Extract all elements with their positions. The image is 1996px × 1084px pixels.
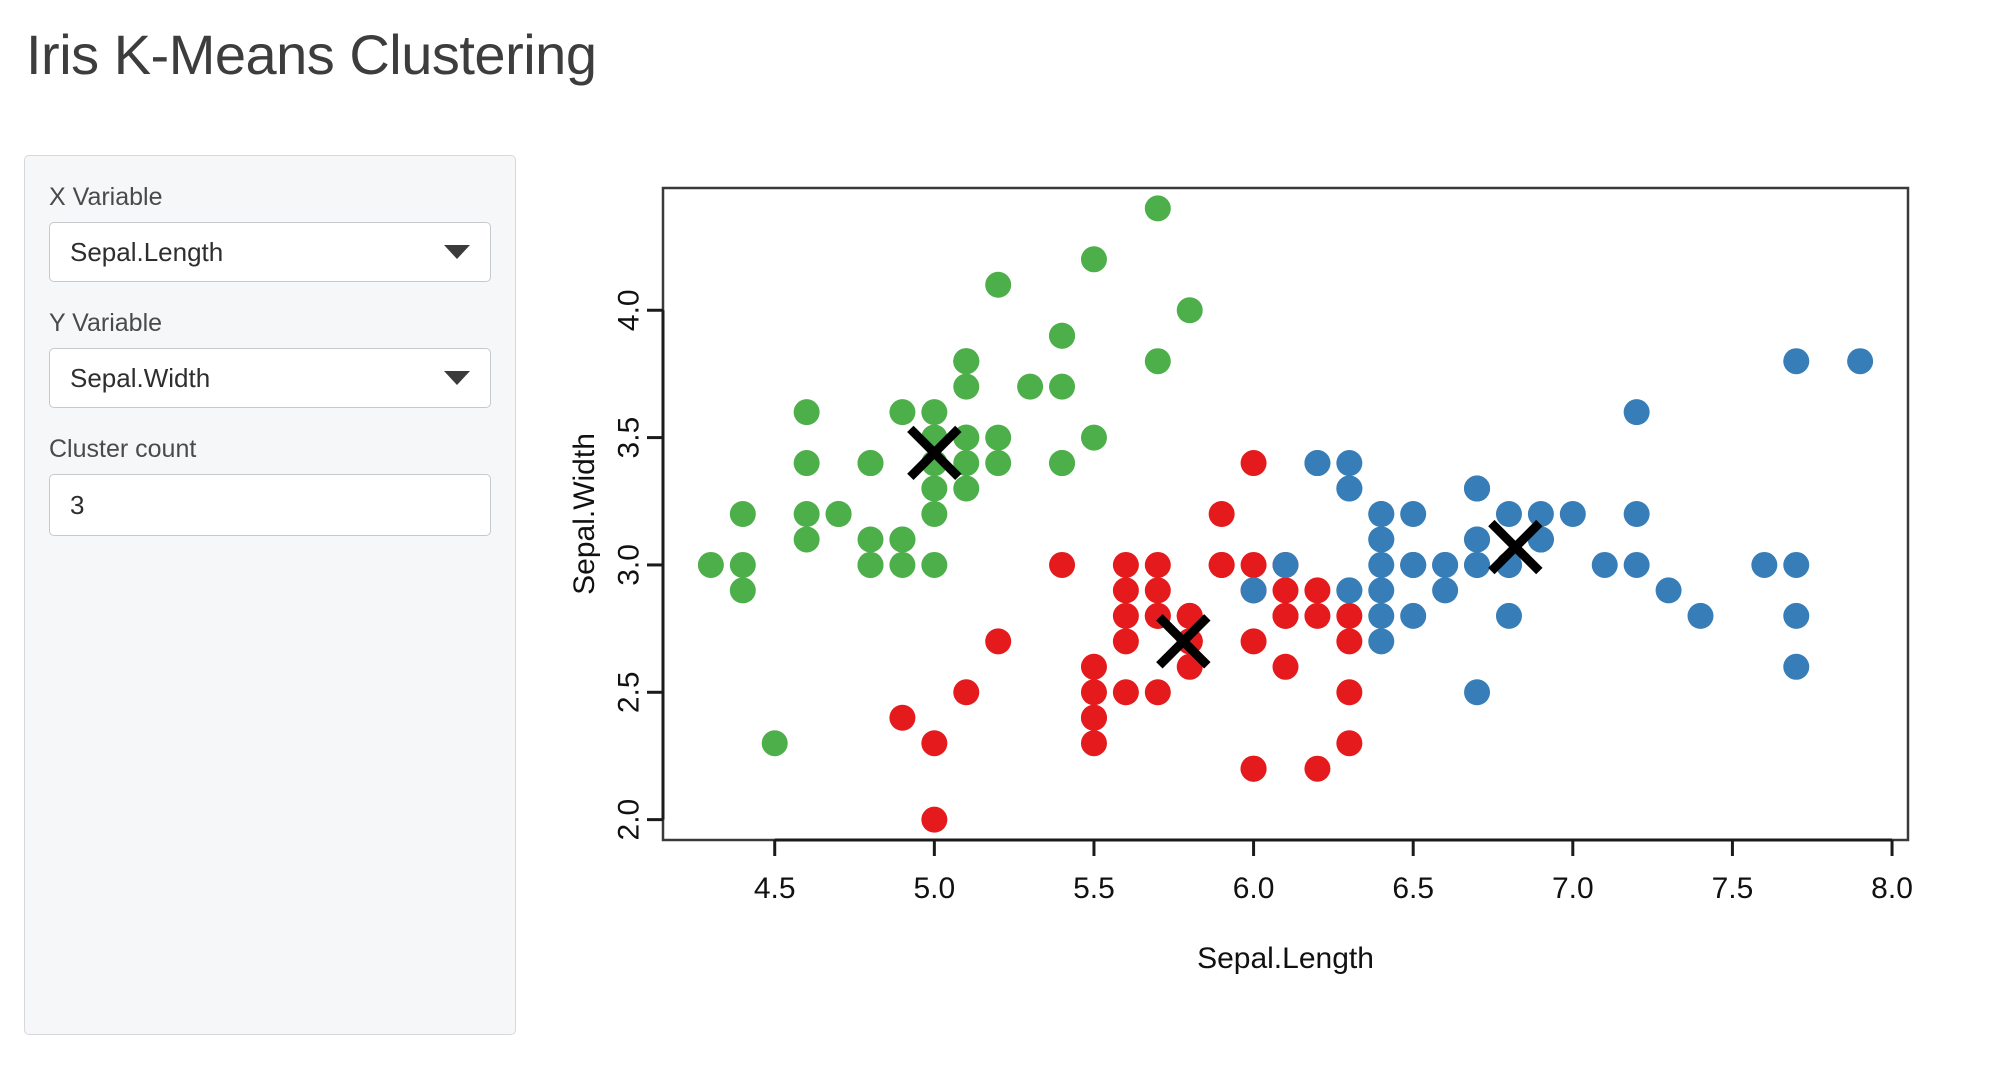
data-point bbox=[1592, 552, 1618, 578]
data-point bbox=[1783, 603, 1809, 629]
data-point bbox=[953, 374, 979, 400]
y-axis-tick-label: 3.5 bbox=[613, 417, 646, 459]
data-point bbox=[1464, 679, 1490, 705]
data-point bbox=[1783, 348, 1809, 374]
data-point bbox=[1209, 552, 1235, 578]
data-point bbox=[1241, 552, 1267, 578]
cluster-count-input[interactable]: 3 bbox=[49, 474, 491, 536]
data-point bbox=[1273, 654, 1299, 680]
data-point bbox=[730, 501, 756, 527]
y-variable-label: Y Variable bbox=[49, 308, 491, 338]
data-point bbox=[921, 399, 947, 425]
scatter-plot-container: 4.55.05.56.06.57.07.58.02.02.53.03.54.0S… bbox=[556, 150, 1976, 1000]
data-point bbox=[1336, 476, 1362, 502]
data-point bbox=[1017, 374, 1043, 400]
data-point bbox=[1368, 628, 1394, 654]
data-point bbox=[1624, 501, 1650, 527]
chevron-down-icon bbox=[444, 371, 470, 385]
data-point bbox=[1304, 756, 1330, 782]
x-axis-tick-label: 5.5 bbox=[1073, 872, 1115, 905]
data-point bbox=[1113, 628, 1139, 654]
data-point bbox=[1656, 577, 1682, 603]
data-point bbox=[1145, 577, 1171, 603]
data-point bbox=[1336, 679, 1362, 705]
page-title: Iris K-Means Clustering bbox=[26, 24, 596, 86]
data-point bbox=[794, 450, 820, 476]
data-point bbox=[889, 399, 915, 425]
data-point bbox=[1145, 195, 1171, 221]
y-axis-tick-label: 2.5 bbox=[613, 671, 646, 713]
x-axis-tick-label: 7.0 bbox=[1552, 872, 1594, 905]
data-point bbox=[1688, 603, 1714, 629]
y-variable-field: Y Variable Sepal.Width bbox=[49, 308, 491, 408]
data-point bbox=[953, 348, 979, 374]
x-axis-tick-label: 6.5 bbox=[1392, 872, 1434, 905]
data-point bbox=[858, 526, 884, 552]
data-point bbox=[1368, 552, 1394, 578]
data-point bbox=[1145, 348, 1171, 374]
data-point bbox=[1496, 501, 1522, 527]
data-point bbox=[1081, 654, 1107, 680]
data-point bbox=[1177, 297, 1203, 323]
data-point bbox=[889, 705, 915, 731]
data-point bbox=[1624, 399, 1650, 425]
data-point bbox=[1304, 603, 1330, 629]
data-point bbox=[1464, 476, 1490, 502]
data-point bbox=[1113, 679, 1139, 705]
data-point bbox=[921, 730, 947, 756]
x-axis-tick-label: 5.0 bbox=[913, 872, 955, 905]
data-point bbox=[1751, 552, 1777, 578]
data-point bbox=[730, 577, 756, 603]
cluster-count-field: Cluster count 3 bbox=[49, 434, 491, 536]
data-point bbox=[1049, 374, 1075, 400]
data-point bbox=[921, 501, 947, 527]
chevron-down-icon bbox=[444, 245, 470, 259]
data-point bbox=[1081, 730, 1107, 756]
data-point bbox=[1400, 552, 1426, 578]
data-point bbox=[889, 552, 915, 578]
data-point bbox=[1113, 577, 1139, 603]
data-point bbox=[1145, 679, 1171, 705]
data-point bbox=[1241, 450, 1267, 476]
data-point bbox=[1496, 603, 1522, 629]
data-point bbox=[1336, 603, 1362, 629]
data-point bbox=[1209, 501, 1235, 527]
x-variable-select[interactable]: Sepal.Length bbox=[49, 222, 491, 282]
x-variable-label: X Variable bbox=[49, 182, 491, 212]
data-point bbox=[1241, 628, 1267, 654]
data-point bbox=[1273, 552, 1299, 578]
y-axis-title: Sepal.Width bbox=[568, 433, 601, 595]
data-point bbox=[1336, 577, 1362, 603]
kmeans-scatter-plot: 4.55.05.56.06.57.07.58.02.02.53.03.54.0S… bbox=[556, 150, 1976, 1000]
data-point bbox=[762, 730, 788, 756]
data-point bbox=[1113, 552, 1139, 578]
x-axis-tick-label: 8.0 bbox=[1871, 872, 1913, 905]
data-point bbox=[1081, 425, 1107, 451]
x-variable-field: X Variable Sepal.Length bbox=[49, 182, 491, 282]
data-point bbox=[1368, 603, 1394, 629]
data-point bbox=[1081, 679, 1107, 705]
data-point bbox=[1049, 323, 1075, 349]
data-point bbox=[1273, 577, 1299, 603]
data-point bbox=[1400, 603, 1426, 629]
data-point bbox=[985, 450, 1011, 476]
y-axis-tick-label: 4.0 bbox=[613, 289, 646, 331]
data-point bbox=[1432, 552, 1458, 578]
x-axis-tick-label: 7.5 bbox=[1712, 872, 1754, 905]
data-point bbox=[826, 501, 852, 527]
data-point bbox=[1400, 501, 1426, 527]
data-point bbox=[1464, 526, 1490, 552]
data-point bbox=[1624, 552, 1650, 578]
data-point bbox=[953, 679, 979, 705]
cluster-count-value: 3 bbox=[70, 490, 84, 521]
data-point bbox=[698, 552, 724, 578]
x-variable-selected-value: Sepal.Length bbox=[70, 237, 223, 268]
data-point bbox=[1145, 552, 1171, 578]
x-axis-title: Sepal.Length bbox=[1197, 942, 1374, 975]
data-point bbox=[1368, 577, 1394, 603]
data-point bbox=[985, 628, 1011, 654]
data-point bbox=[985, 272, 1011, 298]
data-point bbox=[1560, 501, 1586, 527]
data-point bbox=[794, 399, 820, 425]
data-point bbox=[1368, 501, 1394, 527]
data-point bbox=[1432, 577, 1458, 603]
data-point bbox=[1081, 705, 1107, 731]
data-point bbox=[858, 450, 884, 476]
data-point bbox=[921, 552, 947, 578]
data-point bbox=[1081, 246, 1107, 272]
x-axis-tick-label: 6.0 bbox=[1233, 872, 1275, 905]
y-axis-tick-label: 2.0 bbox=[613, 799, 646, 841]
y-axis-tick-label: 3.0 bbox=[613, 544, 646, 586]
sidebar-panel: X Variable Sepal.Length Y Variable Sepal… bbox=[24, 155, 516, 1035]
data-point bbox=[1304, 577, 1330, 603]
data-point bbox=[858, 552, 884, 578]
data-point bbox=[794, 526, 820, 552]
data-point bbox=[1241, 577, 1267, 603]
data-point bbox=[1241, 756, 1267, 782]
data-point bbox=[1336, 628, 1362, 654]
data-point bbox=[730, 552, 756, 578]
data-point bbox=[1273, 603, 1299, 629]
data-point bbox=[1783, 552, 1809, 578]
data-point bbox=[1304, 450, 1330, 476]
y-variable-selected-value: Sepal.Width bbox=[70, 363, 210, 394]
data-point bbox=[921, 807, 947, 833]
data-point bbox=[953, 476, 979, 502]
data-point bbox=[1049, 552, 1075, 578]
data-point bbox=[1049, 450, 1075, 476]
cluster-count-label: Cluster count bbox=[49, 434, 491, 464]
y-variable-select[interactable]: Sepal.Width bbox=[49, 348, 491, 408]
data-point bbox=[921, 476, 947, 502]
data-point bbox=[1368, 526, 1394, 552]
data-point bbox=[889, 526, 915, 552]
data-point bbox=[1783, 654, 1809, 680]
data-point bbox=[1336, 450, 1362, 476]
data-point bbox=[1336, 730, 1362, 756]
data-point bbox=[1464, 552, 1490, 578]
data-point bbox=[794, 501, 820, 527]
data-point bbox=[1528, 501, 1554, 527]
data-point bbox=[985, 425, 1011, 451]
x-axis-tick-label: 4.5 bbox=[754, 872, 796, 905]
data-point bbox=[1847, 348, 1873, 374]
data-point bbox=[1113, 603, 1139, 629]
